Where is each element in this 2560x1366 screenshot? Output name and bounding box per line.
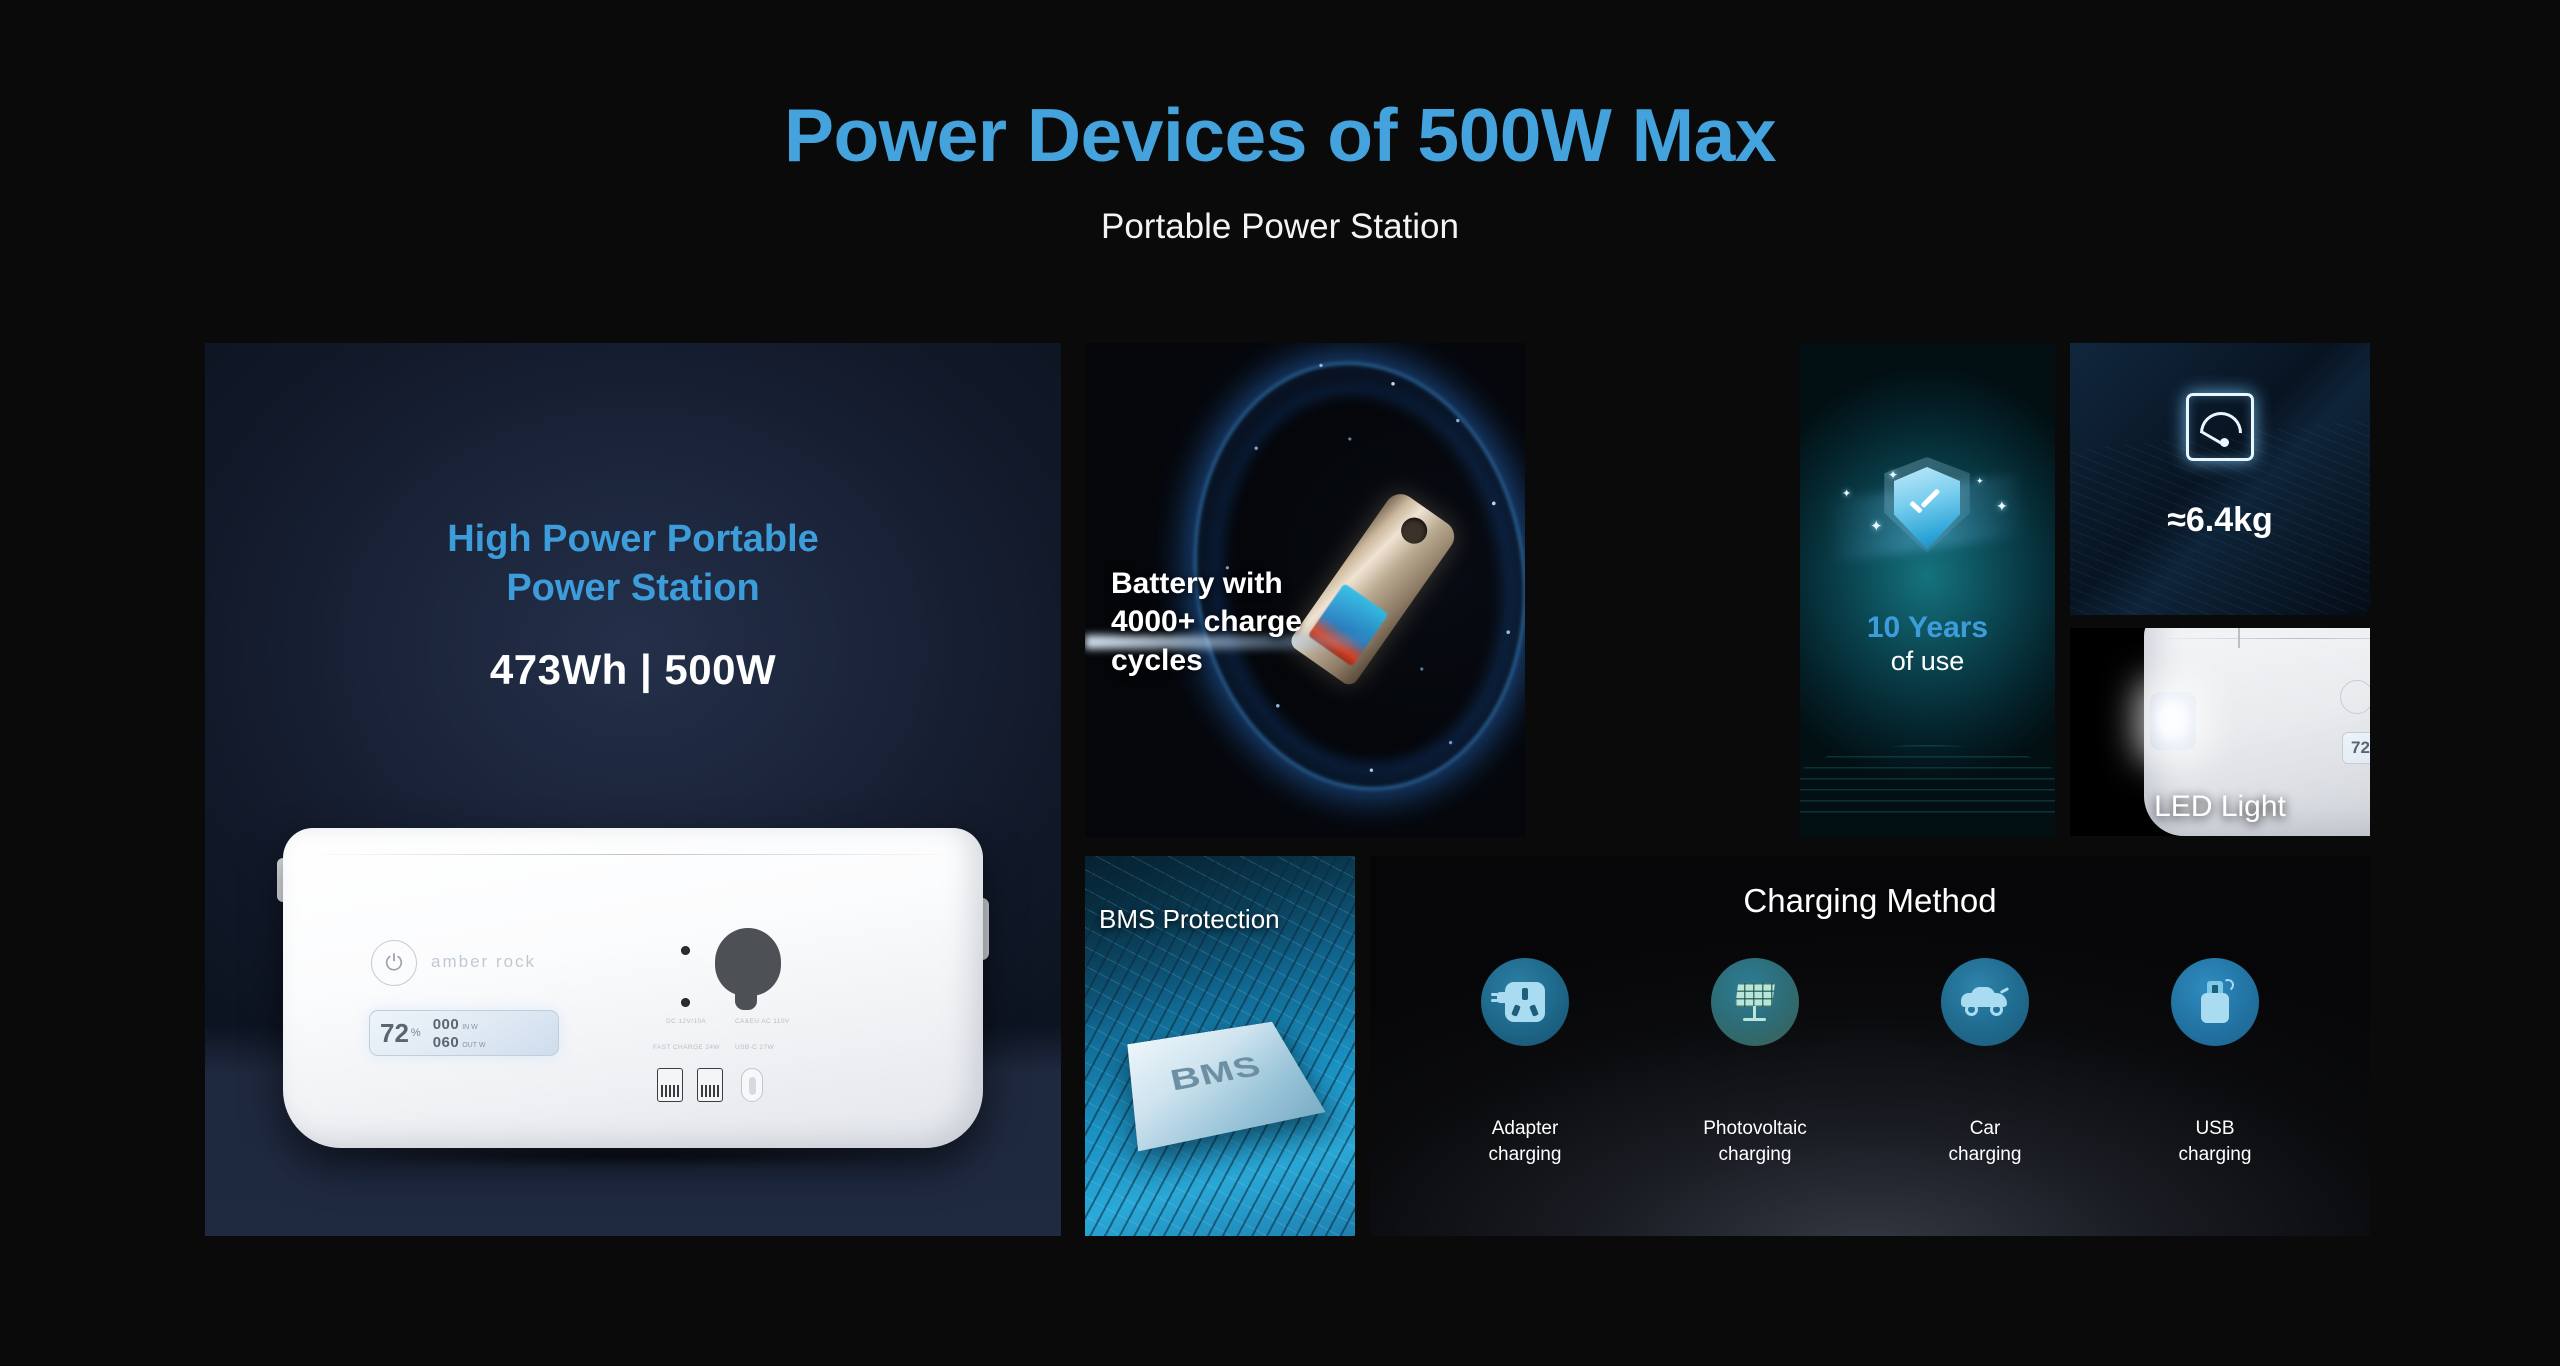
charging-method-label-line2: charging <box>1890 1142 2080 1168</box>
usb-c-label: USB-C 27W <box>735 1044 774 1051</box>
page-title: Power Devices of 500W Max <box>0 98 2560 173</box>
fast-charge-label: FAST CHARGE 24W <box>653 1044 720 1051</box>
charging-method-title: Charging Method <box>1370 882 2370 920</box>
feature-grid: High Power Portable Power Station 473Wh … <box>205 343 2370 1236</box>
led-lcd-percent: 72 <box>2351 738 2370 758</box>
device-lcd-display: 72 % 000 IN W 060 OUT W <box>369 1010 559 1056</box>
sparkle-icon: ✦ <box>1976 477 1984 486</box>
charging-method-list: Adapter charging Photovoltaic <box>1430 958 2310 1168</box>
banner-header: Power Devices of 500W Max Portable Power… <box>0 0 2560 244</box>
sparkle-icon: ✦ <box>1888 469 1898 481</box>
car-wheel-right <box>1990 1003 2003 1016</box>
hero-heading-line1: High Power Portable <box>205 515 1061 564</box>
plug-shape <box>1491 989 1509 1005</box>
promo-banner: Power Devices of 500W Max Portable Power… <box>0 0 2560 1366</box>
lcd-percent-symbol: % <box>411 1027 421 1039</box>
charging-method-label: Photovoltaic charging <box>1660 1116 1850 1168</box>
weight-panel: ≈6.4kg <box>2070 343 2370 615</box>
led-device-hook <box>2238 628 2240 648</box>
lifespan-years: 10 Years <box>1800 611 2055 645</box>
hero-heading: High Power Portable Power Station <box>205 515 1061 612</box>
usb-a-port-2 <box>697 1068 723 1102</box>
socket-pin-top <box>1522 988 1528 1000</box>
weight-value: ≈6.4kg <box>2070 501 2370 540</box>
gauge-pivot <box>2220 438 2229 447</box>
device-indicator-led-2 <box>681 998 690 1007</box>
solar-shape <box>1732 979 1778 1025</box>
socket-shape <box>1505 982 1545 1022</box>
power-button[interactable]: ⏻ <box>371 940 417 986</box>
usb-a-port-1 <box>657 1068 683 1102</box>
plug-body <box>1497 992 1509 1003</box>
weight-scale-icon <box>2186 393 2254 461</box>
battery-caption-line2: 4000+ charge <box>1111 603 1381 641</box>
hero-text-block: High Power Portable Power Station 473Wh … <box>205 343 1061 694</box>
sparkle-icon: ✦ <box>1842 489 1851 500</box>
lifespan-panel: ✦ ✦ ✦ ✦ ✦ 10 Years of use <box>1800 343 2055 837</box>
charging-method-label-line2: charging <box>2120 1142 2310 1168</box>
dc-output-label: DC 12V/10A <box>666 1018 706 1025</box>
ac-output-label: CA&EU AC 110V <box>735 1018 790 1025</box>
led-light-glow <box>2150 692 2196 750</box>
battery-caption: Battery with 4000+ charge cycles <box>1111 565 1381 680</box>
device-body: ⏻ amber rock 72 % 000 IN W 060 <box>283 828 983 1148</box>
car-shape <box>1959 987 2011 1017</box>
charging-method-label-line1: Photovoltaic <box>1660 1116 1850 1142</box>
car-charge-cable <box>2000 987 2009 994</box>
led-device-lcd: 72 000 060 <box>2342 732 2370 764</box>
battery-caption-line1: Battery with <box>1111 565 1381 603</box>
charging-method-label-line1: USB <box>2120 1116 2310 1142</box>
charging-method-photovoltaic[interactable]: Photovoltaic charging <box>1660 958 1850 1168</box>
bms-title: BMS Protection <box>1099 904 1349 935</box>
usb-c-port <box>741 1068 763 1102</box>
plug-prong-2 <box>1491 999 1498 1002</box>
battery-caption-line3: cycles <box>1111 642 1381 680</box>
shield-check-icon: ✦ ✦ ✦ ✦ ✦ <box>1800 453 2055 583</box>
led-light-panel: amber rock 72 000 060 LED Light <box>2070 628 2370 836</box>
charging-method-usb[interactable]: USB charging <box>2120 958 2310 1168</box>
car-wheel-left <box>1965 1003 1978 1016</box>
sparkle-icon: ✦ <box>1870 519 1883 534</box>
power-outlet-icon <box>1481 958 1569 1046</box>
led-device-power-button <box>2340 680 2370 714</box>
device-indicator-led-1 <box>681 946 690 955</box>
lcd-output-value: 060 <box>433 1035 460 1050</box>
device-brand-label: amber rock <box>431 952 536 972</box>
socket-pin-right <box>1529 1004 1539 1016</box>
lcd-input-unit: IN W <box>462 1024 478 1031</box>
check-mark-icon <box>1910 493 1942 510</box>
usb-body <box>2201 993 2229 1023</box>
device-seam <box>299 854 967 855</box>
sparkle-icon: ✦ <box>1996 499 2008 513</box>
lifespan-text-block: 10 Years of use <box>1800 611 2055 677</box>
lifespan-wave-decoration <box>1800 745 2055 819</box>
lcd-output-row: 060 OUT W <box>433 1035 486 1050</box>
charging-method-label-line1: Adapter <box>1430 1116 1620 1142</box>
led-light-label: LED Light <box>2070 790 2370 824</box>
lcd-battery-percent: 72 <box>380 1020 409 1046</box>
charging-method-label: Car charging <box>1890 1116 2080 1168</box>
charging-method-adapter[interactable]: Adapter charging <box>1430 958 1620 1168</box>
led-device-seam <box>2152 638 2370 639</box>
lcd-output-unit: OUT W <box>462 1042 485 1049</box>
plug-prong-1 <box>1491 993 1498 996</box>
lcd-power-readouts: 000 IN W 060 OUT W <box>433 1017 486 1050</box>
gauge-arc <box>2200 412 2242 433</box>
lcd-input-row: 000 IN W <box>433 1017 486 1032</box>
solar-array <box>1735 983 1775 1007</box>
hero-product-panel: High Power Portable Power Station 473Wh … <box>205 343 1061 1236</box>
bms-protection-panel: BMS BMS Protection <box>1085 856 1355 1236</box>
lifespan-subtitle: of use <box>1800 645 2055 677</box>
charging-method-label-line2: charging <box>1430 1142 1620 1168</box>
charging-method-label-line1: Car <box>1890 1116 2080 1142</box>
charging-method-label-line2: charging <box>1660 1142 1850 1168</box>
hero-spec: 473Wh | 500W <box>205 646 1061 694</box>
car-icon <box>1941 958 2029 1046</box>
solar-base <box>1743 1018 1766 1021</box>
usb-shape <box>2198 979 2232 1025</box>
socket-pin-left <box>1511 1004 1521 1016</box>
charging-method-panel: Charging Method <box>1370 856 2370 1236</box>
hero-heading-line2: Power Station <box>205 564 1061 613</box>
charging-method-label: Adapter charging <box>1430 1116 1620 1168</box>
usb-plug-icon <box>2171 958 2259 1046</box>
page-subtitle: Portable Power Station <box>0 209 2560 244</box>
power-station-device: ⏻ amber rock 72 % 000 IN W 060 <box>283 828 983 1158</box>
charging-method-car[interactable]: Car charging <box>1890 958 2080 1168</box>
charging-method-label: USB charging <box>2120 1116 2310 1168</box>
bms-chip-label: BMS <box>1130 1046 1303 1106</box>
solar-panel-icon <box>1711 958 1799 1046</box>
battery-cycles-panel: Battery with 4000+ charge cycles <box>1085 343 1525 837</box>
lcd-input-value: 000 <box>433 1017 460 1032</box>
power-icon: ⏻ <box>385 952 402 974</box>
ac-outlet-cover-tab <box>735 986 757 1010</box>
